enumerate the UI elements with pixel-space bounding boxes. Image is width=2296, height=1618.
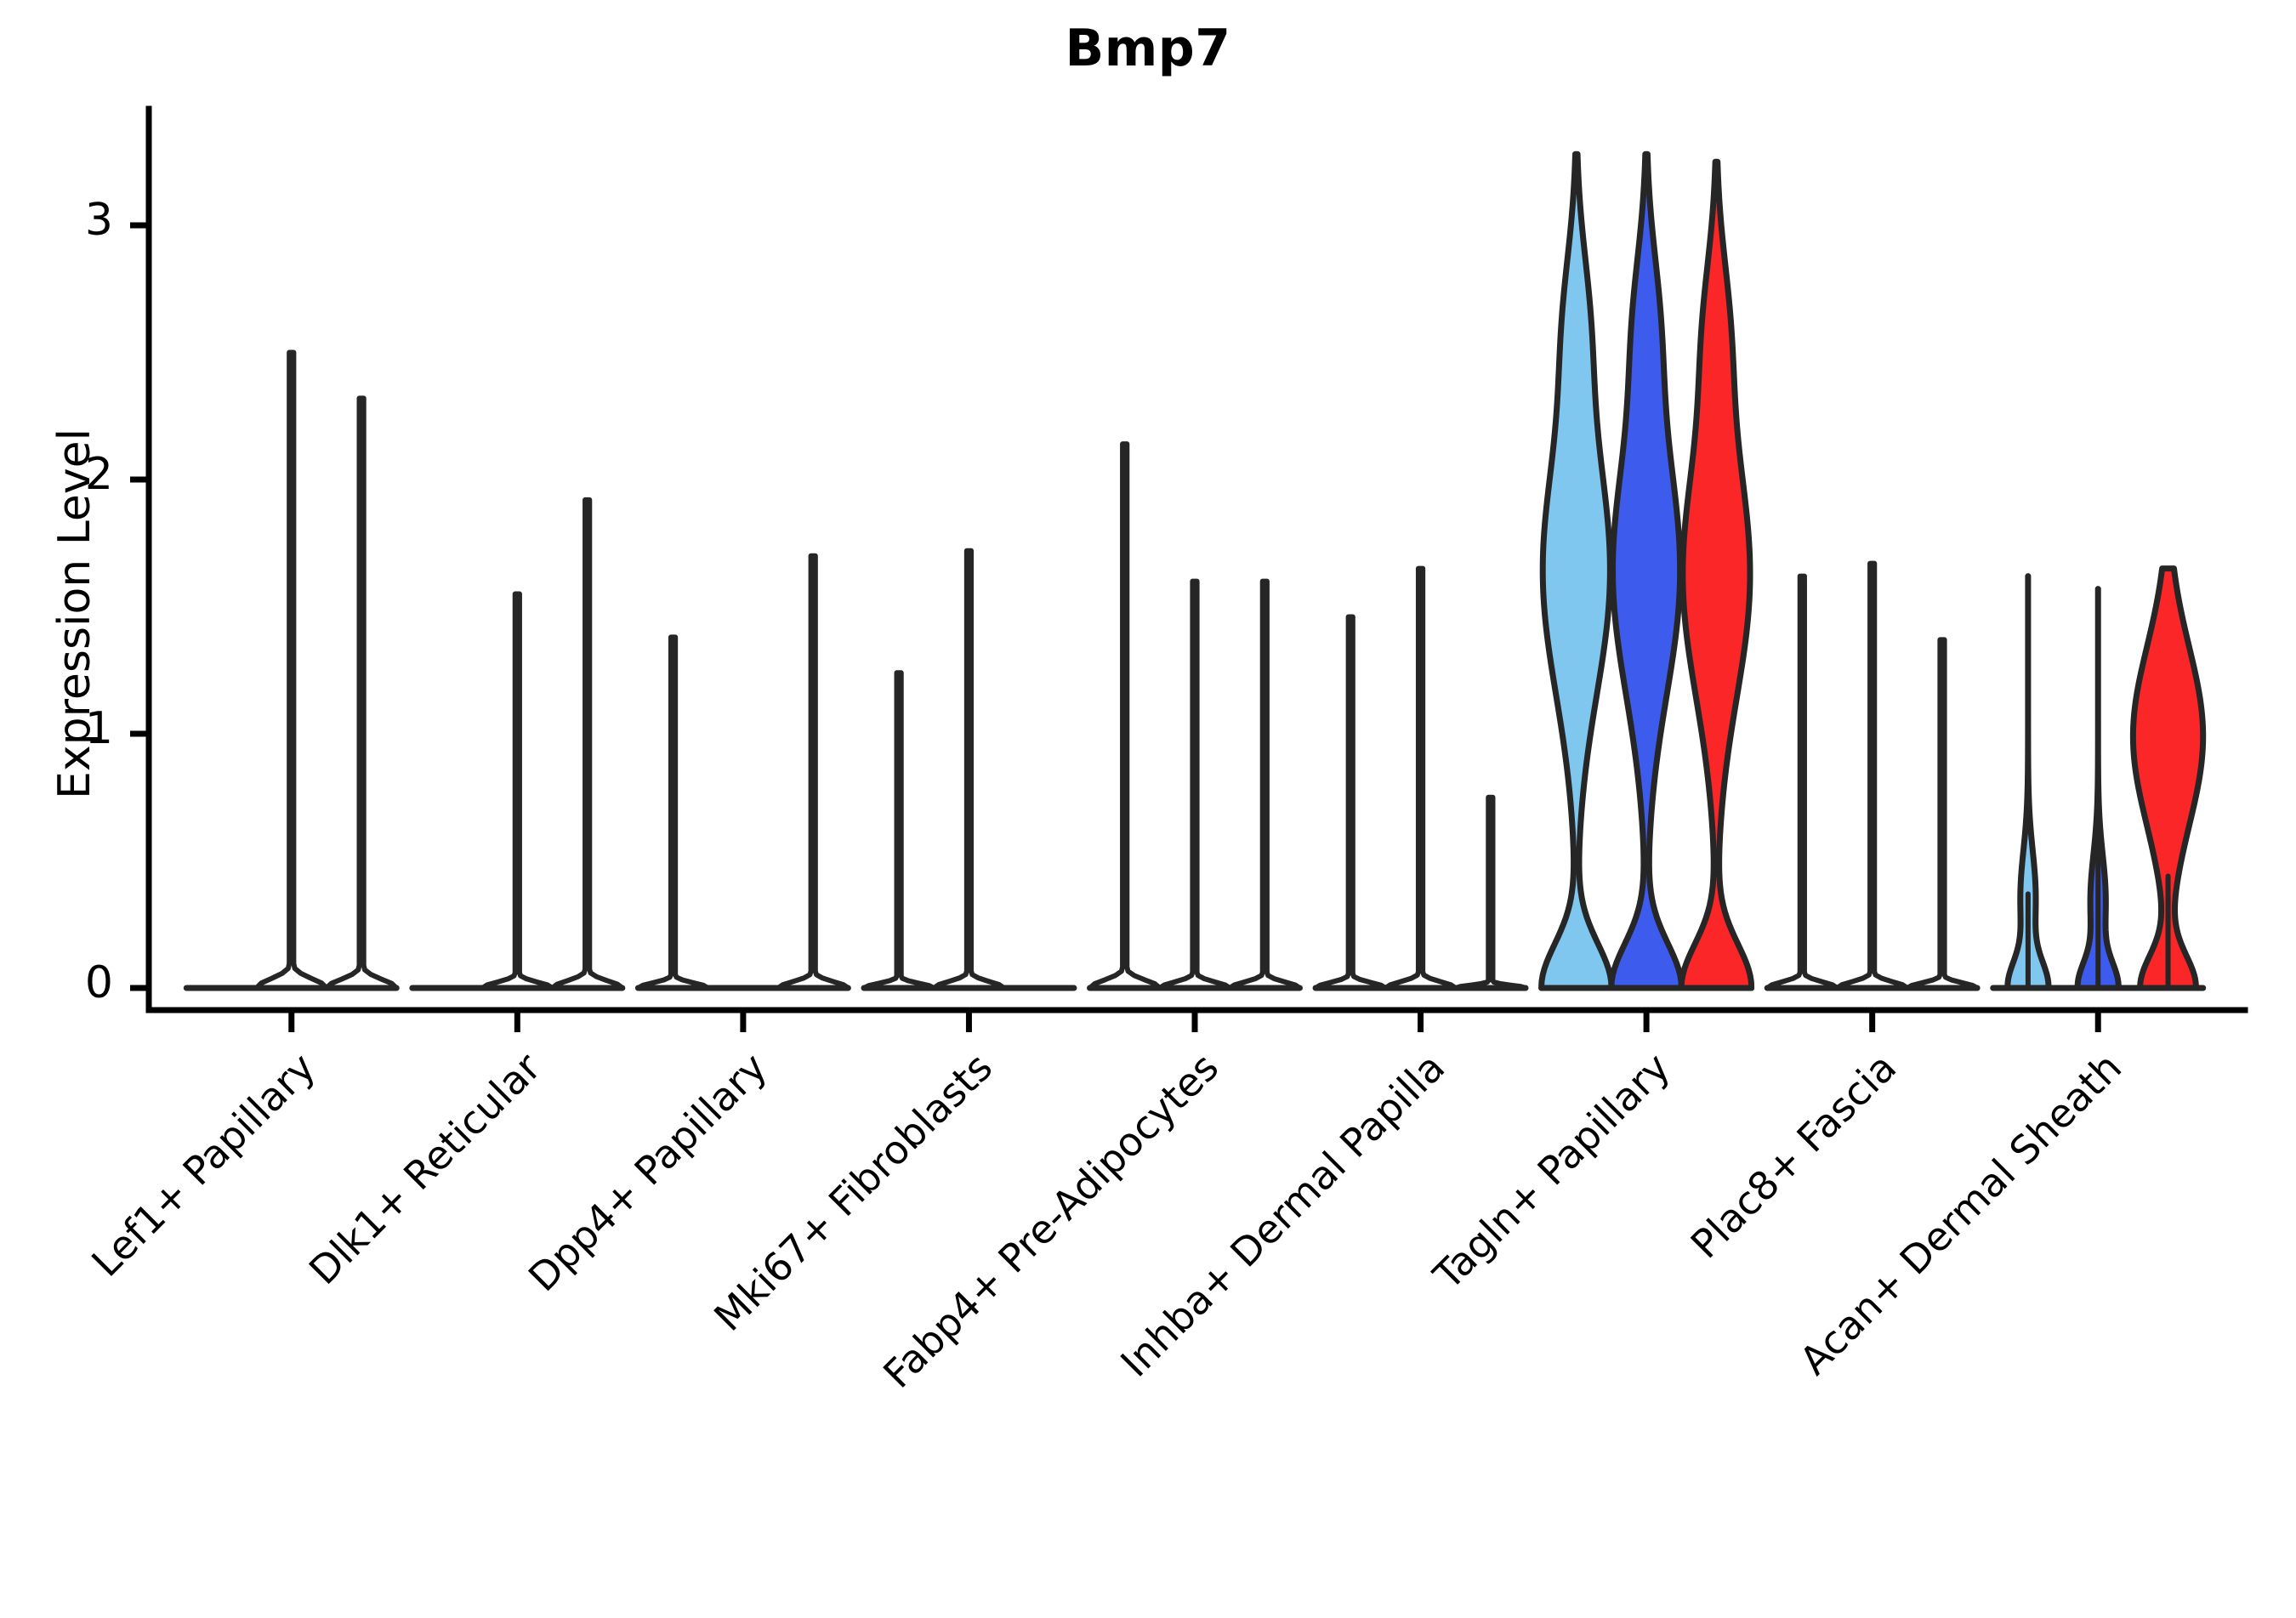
- violin-8-group-3: [1907, 639, 1977, 988]
- violin-6-group-1: [1316, 616, 1385, 988]
- violin-8-group-1: [1767, 576, 1837, 988]
- y-tick-label-2: 2: [28, 449, 113, 500]
- violin-5-group-2: [1160, 582, 1230, 988]
- violin-7-group-1: [1542, 154, 1611, 988]
- violin-1-group-2: [257, 353, 327, 989]
- y-tick-label-1: 1: [28, 703, 113, 754]
- violin-8-group-2: [1838, 564, 1907, 988]
- violin-2-group-2: [482, 594, 552, 988]
- violin-6-group-2: [1385, 569, 1455, 988]
- violin-5-group-3: [1230, 582, 1299, 988]
- y-tick-label-3: 3: [28, 195, 113, 246]
- violin-2-group-3: [552, 500, 622, 988]
- violin-3-group-1: [638, 637, 708, 988]
- violin-plot-figure: Bmp7 Expression Level 0123 Lef1+ Papilla…: [0, 0, 2296, 1530]
- violin-7-group-2: [1611, 154, 1681, 988]
- plot-canvas: [0, 0, 2296, 1530]
- violin-3-group-3: [778, 556, 848, 988]
- violin-4-group-1: [864, 673, 934, 988]
- violin-7-group-3: [1681, 162, 1751, 988]
- violin-4-group-2: [934, 551, 1003, 988]
- violin-6-group-3: [1456, 798, 1526, 988]
- violins-layer: [257, 154, 2203, 988]
- y-tick-label-0: 0: [28, 957, 113, 1008]
- axes-layer: [130, 109, 2245, 1032]
- violin-5-group-1: [1090, 444, 1160, 988]
- violin-1-group-3: [327, 398, 396, 988]
